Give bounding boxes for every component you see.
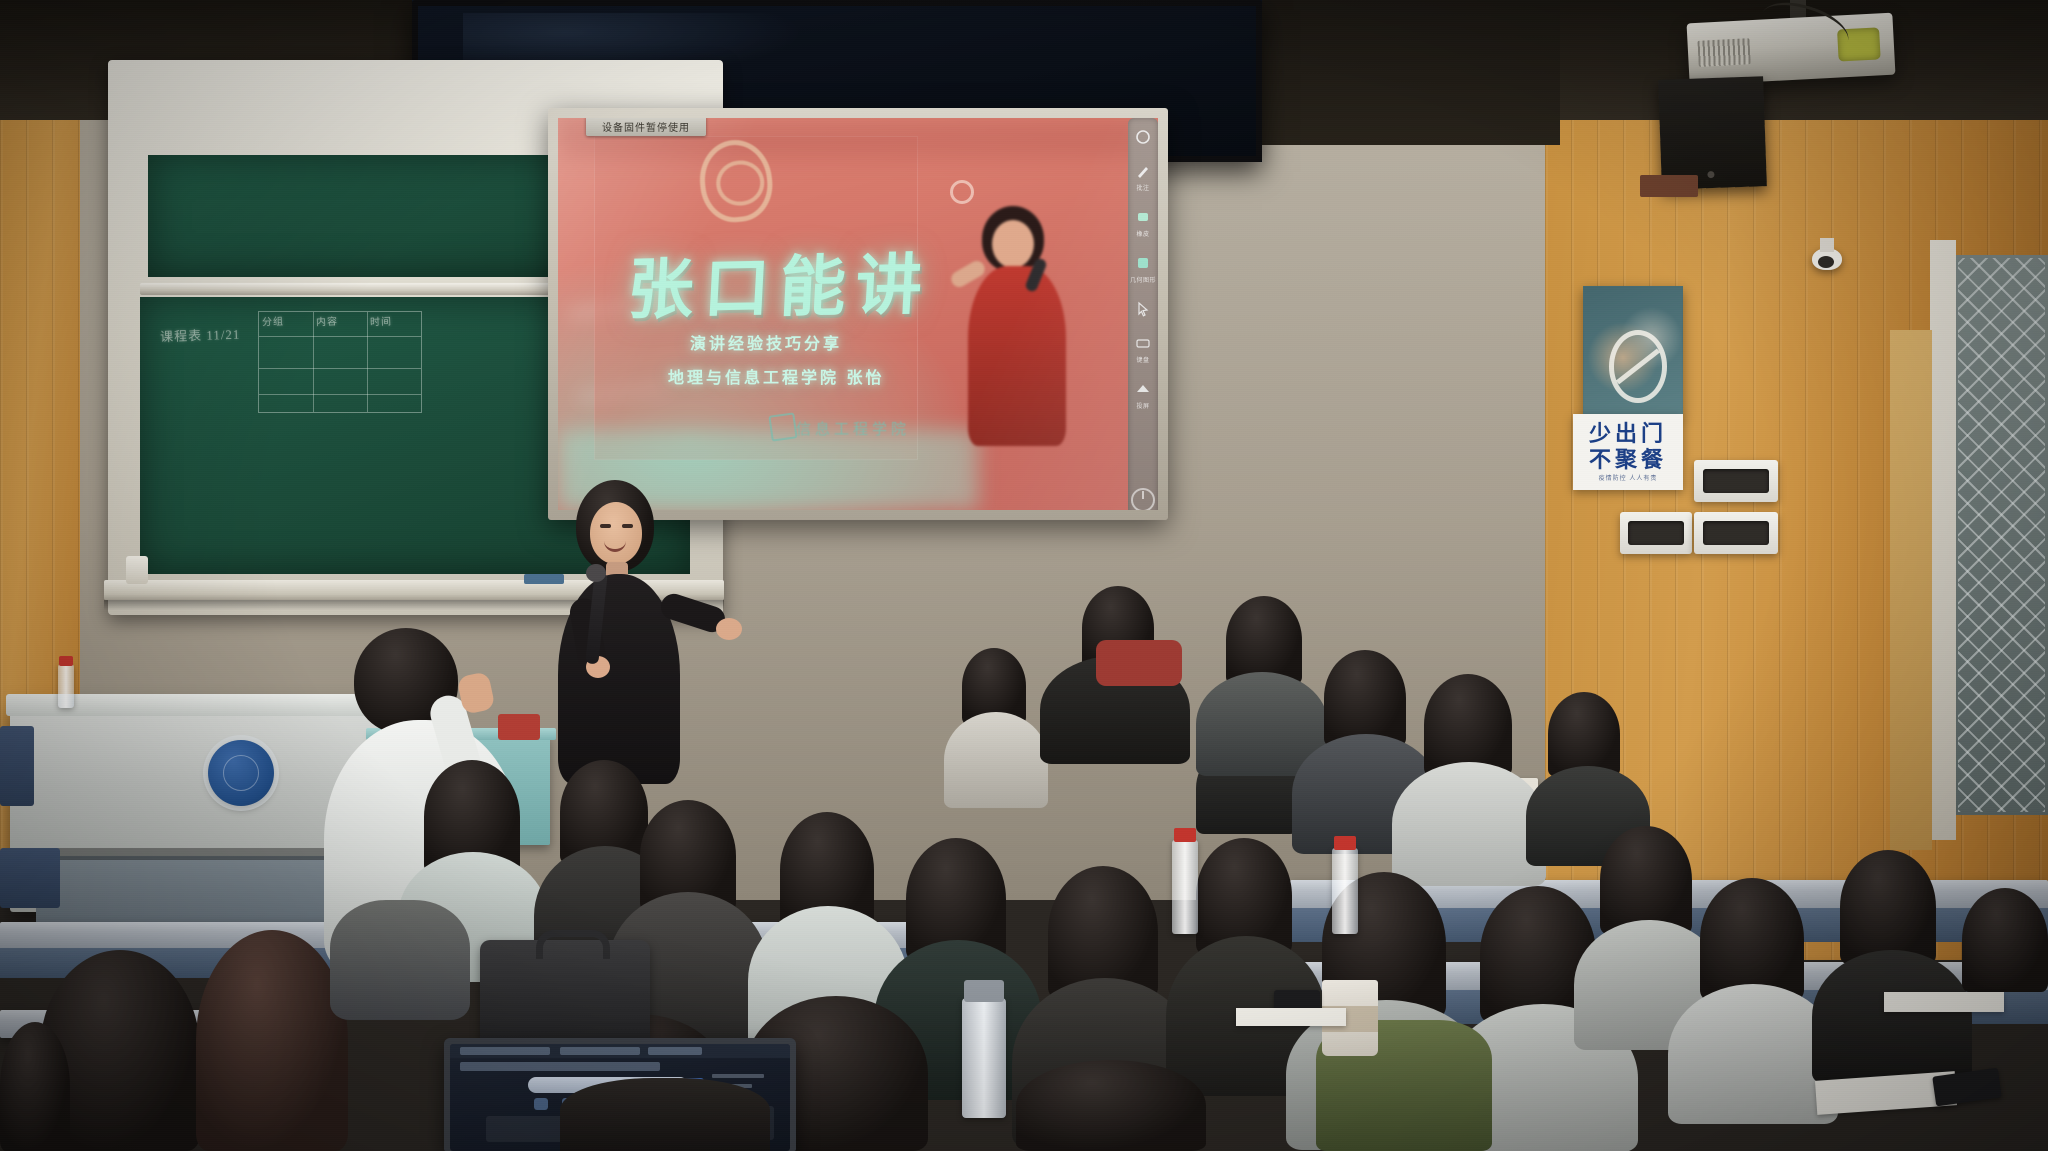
slide-confetti bbox=[950, 180, 974, 204]
chalk-note-date: 课程表 11/21 bbox=[160, 324, 241, 346]
sidebar-line bbox=[712, 1074, 764, 1078]
slide-photo-presenter bbox=[958, 206, 1078, 446]
poster-text-panel: 少出门 不聚餐 疫情防控 人人有责 bbox=[1573, 414, 1683, 490]
university-emblem bbox=[208, 740, 274, 806]
shape-icon[interactable] bbox=[1134, 254, 1152, 272]
content-card[interactable] bbox=[486, 1116, 570, 1142]
audience-head bbox=[1962, 888, 2048, 992]
poster-caption: 疫情防控 人人有责 bbox=[1599, 476, 1658, 483]
equipment-notice-tag: 设备固件暂停使用 bbox=[586, 118, 706, 136]
water-bottle-podium[interactable] bbox=[58, 664, 74, 708]
paper-sheet-1[interactable] bbox=[1236, 1008, 1346, 1026]
hand-over-laptop bbox=[560, 1078, 770, 1151]
camera-bracket bbox=[1820, 238, 1834, 252]
keyboard-icon[interactable] bbox=[1134, 334, 1152, 352]
circle-icon[interactable] bbox=[1134, 128, 1152, 146]
browser-tab[interactable] bbox=[648, 1047, 702, 1055]
chalk-header-2: 内容 bbox=[316, 313, 339, 329]
audience-head bbox=[1548, 692, 1620, 776]
grey-bag[interactable] bbox=[330, 900, 470, 1020]
control-panel-left[interactable] bbox=[1620, 512, 1692, 554]
app-icon[interactable] bbox=[534, 1098, 548, 1110]
slide-footer-text: 信息工程学院 bbox=[796, 418, 910, 439]
projection-screen[interactable]: 张口能讲 演讲经验技巧分享 地理与信息工程学院 张怡 信息工程学院 bbox=[558, 118, 1158, 510]
eraser-icon[interactable] bbox=[1134, 208, 1152, 226]
slide-subtitle-1: 演讲经验技巧分享 bbox=[690, 330, 842, 354]
eraser-label: 橡皮 bbox=[1136, 229, 1149, 238]
share-label: 投屏 bbox=[1136, 401, 1149, 410]
audience-head-foreground bbox=[0, 1022, 70, 1151]
chair-back-far-left bbox=[0, 726, 34, 806]
shape-label: 几何图形 bbox=[1130, 275, 1156, 284]
chalk-header-3: 时间 bbox=[370, 313, 393, 329]
address-bar[interactable] bbox=[460, 1062, 660, 1071]
speaker-bracket bbox=[1640, 175, 1698, 197]
microphone-head bbox=[586, 564, 606, 582]
water-bottle-2[interactable] bbox=[1332, 848, 1358, 934]
browser-tab[interactable] bbox=[560, 1047, 640, 1055]
wall-speaker bbox=[1658, 76, 1767, 190]
water-bottle-1[interactable] bbox=[1172, 840, 1198, 934]
control-panel-right-display bbox=[1703, 521, 1769, 545]
door-frame-right bbox=[1930, 240, 1956, 840]
ceiling-soffit bbox=[1240, 0, 1560, 145]
lecture-hall-photo: 课程表 11/21 分组 内容 时间 张口能讲 演讲经验技巧分享 地理与信息工程… bbox=[0, 0, 2048, 1151]
audience-head bbox=[1424, 674, 1512, 776]
audience-head bbox=[1700, 878, 1804, 1000]
covid-poster bbox=[1583, 286, 1683, 416]
audience-head-foreground bbox=[196, 930, 348, 1151]
audience-head bbox=[1840, 850, 1936, 964]
chalk-bottle[interactable] bbox=[126, 556, 148, 584]
audience-body bbox=[1812, 950, 1972, 1084]
browser-tab[interactable] bbox=[460, 1047, 550, 1055]
door-grille-pattern bbox=[1958, 258, 2045, 812]
audience-head bbox=[1226, 596, 1302, 684]
presenter-hand-right bbox=[716, 618, 742, 640]
thermos-flask[interactable] bbox=[962, 998, 1006, 1118]
presenter-eye-left bbox=[600, 524, 611, 528]
notebook-open[interactable] bbox=[1884, 992, 2004, 1012]
control-panel-right[interactable] bbox=[1694, 512, 1778, 554]
water-bottle-podium-cap bbox=[59, 656, 73, 666]
door-frame-left bbox=[1890, 330, 1932, 850]
share-icon[interactable] bbox=[1134, 380, 1152, 398]
control-panel-upper-display bbox=[1703, 469, 1769, 493]
no-gathering-icon bbox=[1609, 330, 1667, 402]
slide-subtitle-2: 地理与信息工程学院 张怡 bbox=[668, 364, 884, 388]
poster-line-2: 不聚餐 bbox=[1589, 447, 1667, 472]
water-bottle-2-cap bbox=[1334, 836, 1356, 850]
keyboard-label: 键盘 bbox=[1136, 355, 1149, 364]
pen-label: 批注 bbox=[1136, 183, 1149, 192]
power-icon[interactable] bbox=[1131, 488, 1155, 510]
iwb-side-toolbar[interactable]: 批注 橡皮 几何图形 键盘 投屏 bbox=[1128, 118, 1158, 510]
control-panel-upper[interactable] bbox=[1694, 460, 1778, 502]
audience-body bbox=[1392, 762, 1546, 886]
chair-back-left-2 bbox=[0, 848, 60, 908]
chalk-header-1: 分组 bbox=[262, 313, 285, 329]
poster-line-1: 少出门 bbox=[1589, 421, 1667, 446]
slide-title: 张口能讲 bbox=[625, 231, 934, 332]
presenter-face bbox=[590, 502, 642, 564]
red-hood bbox=[1096, 640, 1182, 686]
thermos-flask-cap bbox=[964, 980, 1004, 1002]
cursor-icon[interactable] bbox=[1134, 300, 1152, 318]
speaker-screw bbox=[1707, 171, 1714, 178]
slide-background: 张口能讲 演讲经验技巧分享 地理与信息工程学院 张怡 信息工程学院 bbox=[558, 118, 1158, 510]
backpack-handle bbox=[536, 930, 610, 959]
audience-head-foreground bbox=[1016, 1060, 1206, 1151]
audience-body bbox=[944, 712, 1048, 808]
pen-icon[interactable] bbox=[1134, 162, 1152, 180]
projector-vent bbox=[1697, 38, 1750, 67]
slide-footer-mark bbox=[768, 412, 797, 441]
lectern-base-shade bbox=[36, 848, 366, 860]
presenter-eye-right bbox=[622, 524, 633, 528]
water-bottle-1-cap bbox=[1174, 828, 1196, 842]
audience-head bbox=[1324, 650, 1406, 746]
audience-head bbox=[1600, 826, 1692, 934]
control-panel-left-display bbox=[1628, 521, 1684, 545]
